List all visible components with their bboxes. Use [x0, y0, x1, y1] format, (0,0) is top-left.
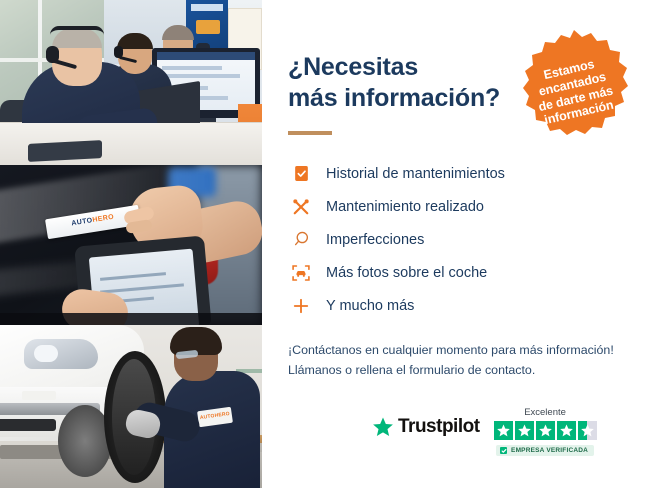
feature-list: Historial de mantenimientos Mantenimient… [288, 157, 624, 322]
star-filled [557, 421, 576, 440]
page-title: ¿Necesitas más información? [288, 52, 538, 113]
list-item: Historial de mantenimientos [288, 157, 624, 190]
content-panel: Estamos encantados de darte más informac… [262, 0, 650, 488]
poster-band [191, 4, 223, 11]
list-item-label: Más fotos sobre el coche [326, 265, 487, 281]
trustpilot-wordmark: Trustpilot [398, 416, 480, 438]
list-item-label: Historial de mantenimientos [326, 166, 505, 182]
ruler-brand-auto: AUTO [71, 217, 93, 227]
agent-one-headset-band [50, 26, 104, 35]
info-banner: AUTOHERO [0, 0, 650, 488]
screen-row [162, 74, 240, 78]
car-grille-lower [0, 419, 56, 431]
uniform-logo-text: AUTOHERO [198, 411, 233, 422]
trustpilot-rating[interactable]: Trustpilot Excelente [372, 407, 597, 456]
call-center-agents-photo [0, 0, 262, 165]
list-item: Y mucho más [288, 289, 624, 322]
clipboard-check-icon [288, 161, 314, 187]
license-plate [22, 391, 56, 400]
trustpilot-logo: Trustpilot [372, 416, 480, 438]
list-item-label: Mantenimiento realizado [326, 199, 484, 215]
trustpilot-score: Excelente [494, 407, 597, 456]
page-title-line-1: ¿Necesitas [288, 53, 418, 81]
star-filled [494, 421, 513, 440]
list-item: Más fotos sobre el coche [288, 256, 624, 289]
screen-header-bar [157, 52, 255, 60]
badge-content: Estamos encantados de darte más informac… [518, 28, 630, 140]
star-filled [515, 421, 534, 440]
check-square-icon [500, 447, 507, 454]
mechanic-tire-inspection-photo: AUTOHERO [0, 325, 262, 488]
list-item-label: Imperfecciones [326, 232, 424, 248]
page-title-line-2: más información? [288, 84, 500, 112]
plus-icon [288, 293, 314, 319]
support-badge: Estamos encantados de darte más informac… [518, 28, 630, 140]
poster-graphic [196, 20, 220, 34]
contact-paragraph-line-1: ¡Contáctanos en cualquier momento para m… [288, 340, 624, 360]
photo-bottom-shadow [0, 313, 262, 325]
star-filled [536, 421, 555, 440]
badge-text: Estamos encantados de darte más informac… [521, 52, 628, 131]
headset-icon [518, 28, 538, 48]
list-item: Imperfecciones [288, 223, 624, 256]
magnifier-icon [288, 227, 314, 253]
tools-cross-icon [288, 194, 314, 220]
list-item-label: Y mucho más [326, 298, 414, 314]
verified-business-badge: EMPRESA VERIFICADA [496, 445, 594, 456]
car-inspection-ruler-photo: AUTOHERO [0, 165, 262, 325]
contact-paragraph-line-2: Llámanos o rellena el formulario de cont… [288, 360, 624, 380]
star-half [578, 421, 597, 440]
star-rating [494, 421, 597, 440]
contact-paragraph: ¡Contáctanos en cualquier momento para m… [288, 340, 624, 380]
rating-label: Excelente [524, 407, 566, 418]
ruler-brand-hero: HERO [92, 214, 115, 224]
headlight-lens [34, 345, 58, 362]
car-scan-icon [288, 260, 314, 286]
photo-collage: AUTOHERO [0, 0, 262, 488]
trustpilot-star-icon [372, 416, 394, 438]
title-underline-accent [288, 131, 332, 135]
screen-row [162, 66, 222, 70]
list-item: Mantenimiento realizado [288, 190, 624, 223]
verified-business-label: EMPRESA VERIFICADA [511, 447, 588, 454]
